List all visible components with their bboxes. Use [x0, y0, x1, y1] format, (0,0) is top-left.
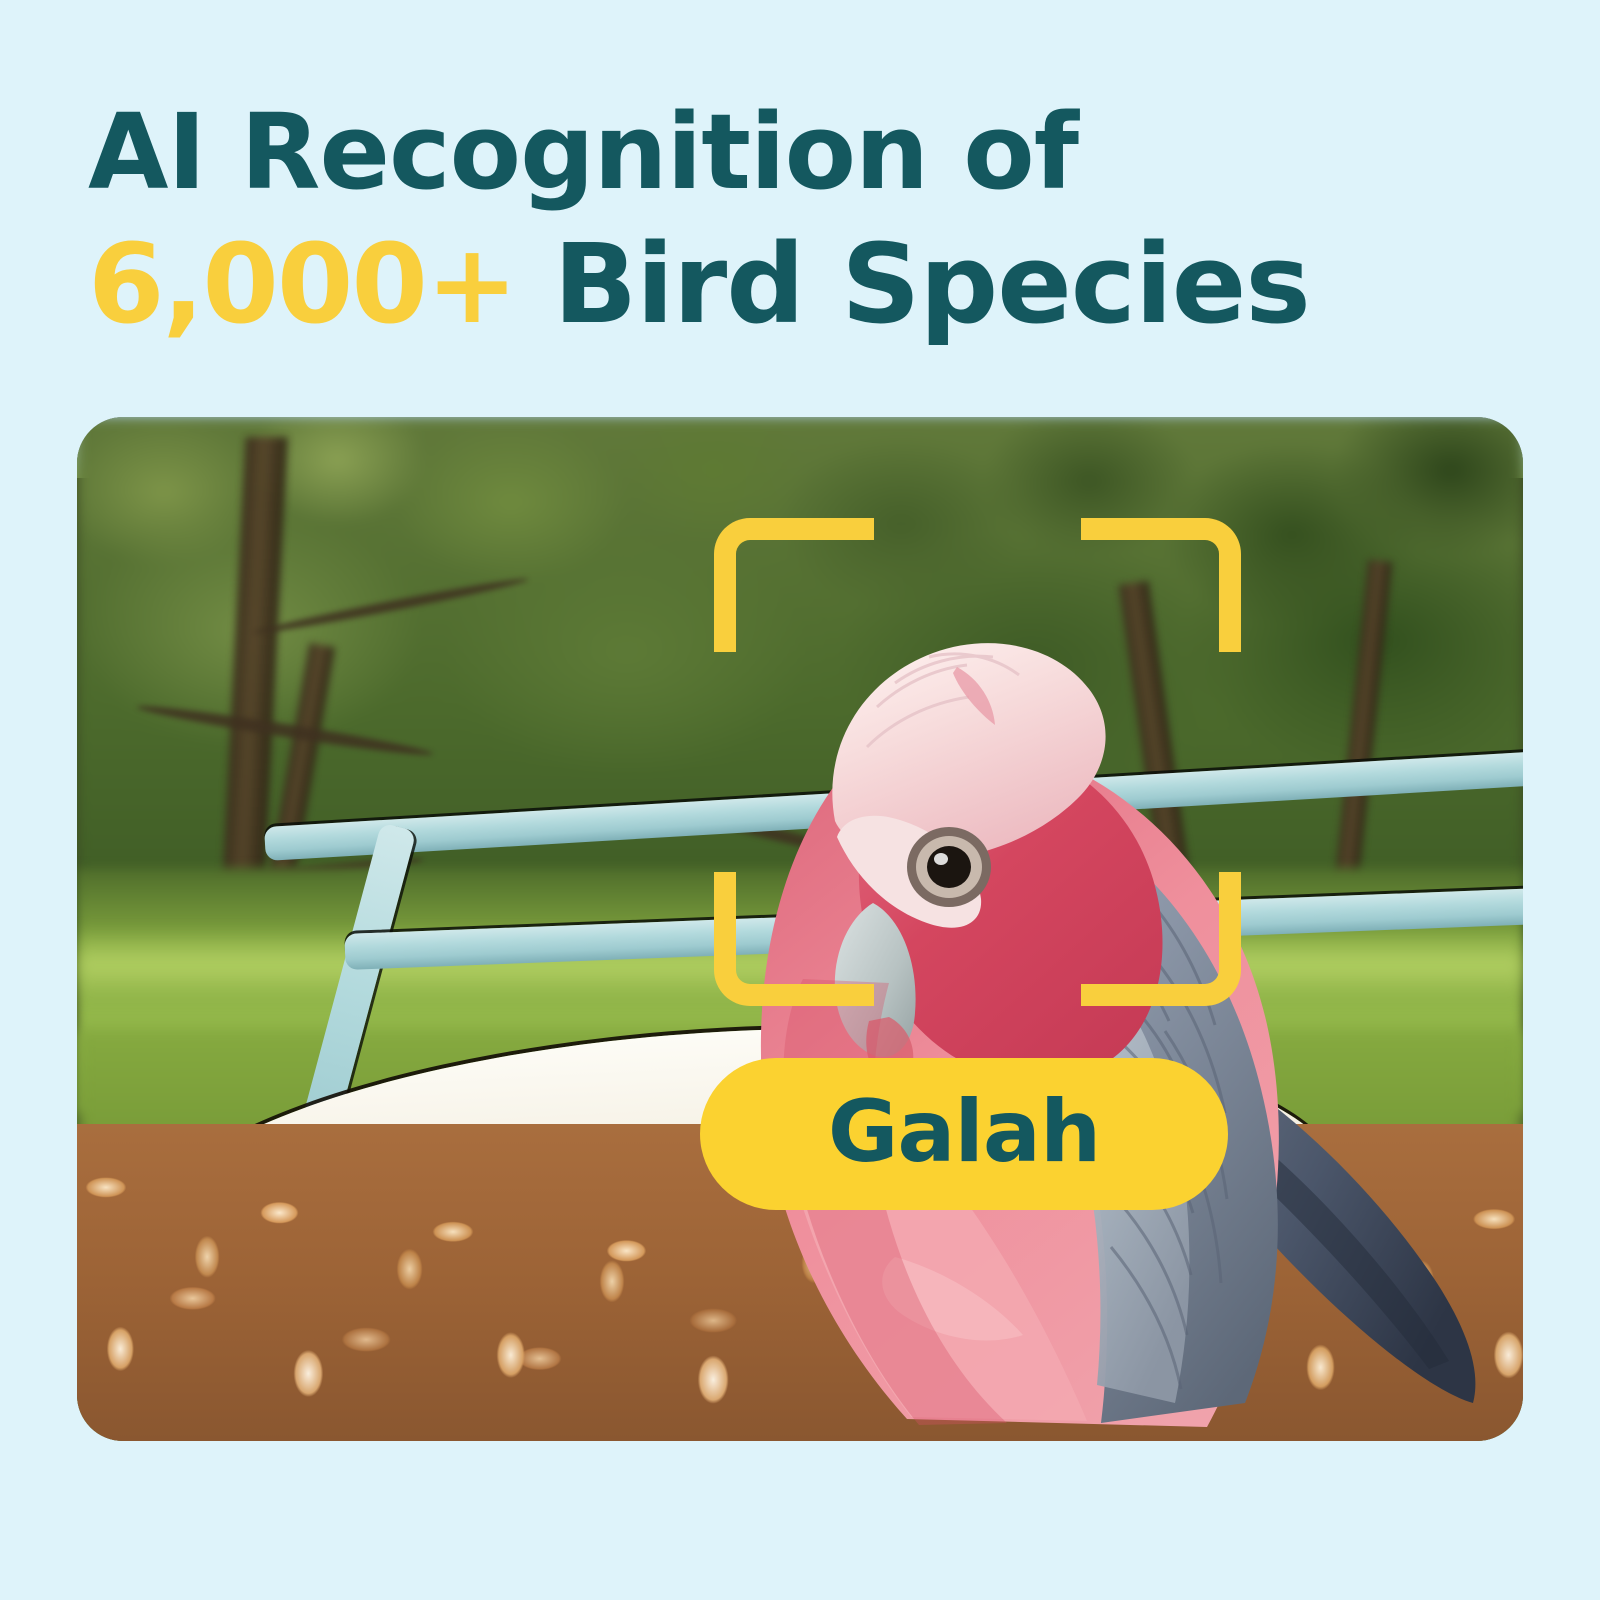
bird-photo-card[interactable]: Galah: [77, 417, 1523, 1441]
species-label-badge[interactable]: Galah: [700, 1058, 1228, 1210]
species-label-text: Galah: [828, 1089, 1100, 1175]
headline-line-2: 6,000+ Bird Species: [88, 218, 1518, 350]
headline-line-2-rest: Bird Species: [516, 220, 1310, 348]
focus-bracket-top-left-icon: [714, 518, 874, 652]
focus-bracket-bottom-left-icon: [714, 872, 874, 1006]
poster-canvas: AI Recognition of 6,000+ Bird Species: [0, 0, 1600, 1600]
headline-block: AI Recognition of 6,000+ Bird Species: [88, 86, 1518, 350]
galah-eye: [907, 827, 991, 907]
headline-line-1: AI Recognition of: [88, 86, 1518, 218]
headline-accent-count: 6,000+: [88, 220, 516, 348]
focus-bracket-bottom-right-icon: [1081, 872, 1241, 1006]
focus-bracket-top-right-icon: [1081, 518, 1241, 652]
